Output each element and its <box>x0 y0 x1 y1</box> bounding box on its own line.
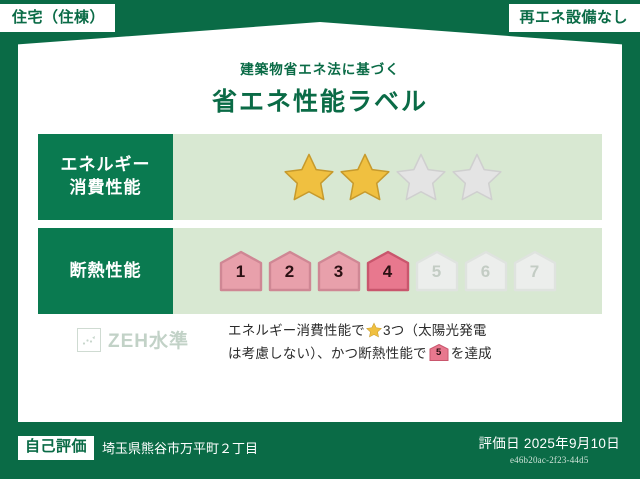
insulation-grade-5: 5 <box>414 249 460 293</box>
desc-part-2: 3つ（太陽光発電 <box>383 323 487 338</box>
building-type-tag: 住宅（住棟） <box>0 4 115 32</box>
zeh-standard-label: ZEH水準 <box>108 326 189 353</box>
insulation-grade-2: 2 <box>267 249 313 293</box>
label-title: 省エネ性能ラベル <box>18 82 622 118</box>
insulation-performance-row: 断熱性能 1234567 <box>38 228 602 314</box>
star-icon-filled <box>339 151 391 203</box>
assessment-type-badge: 自己評価 <box>18 436 94 460</box>
star-icon-empty <box>395 151 447 203</box>
desc-part-1: エネルギー消費性能で <box>228 323 365 338</box>
energy-performance-label: エネルギー 消費性能 <box>38 134 173 220</box>
energy-performance-row: エネルギー 消費性能 <box>38 134 602 220</box>
insulation-grade-scale: 1234567 <box>218 249 558 293</box>
desc-part-3: は考慮しない）、かつ断熱性能で <box>228 346 427 361</box>
star-icon-empty <box>451 151 503 203</box>
insulation-grade-3: 3 <box>316 249 362 293</box>
energy-label-card: 住宅（住棟） 再エネ設備なし 建築物省エネ法に基づく 省エネ性能ラベル エネルギ… <box>0 0 640 479</box>
inline-grade-number: 5 <box>429 348 449 358</box>
star-icon-filled <box>283 151 335 203</box>
label-subtitle: 建築物省エネ法に基づく <box>18 58 622 78</box>
insulation-performance-label-line1: 断熱性能 <box>70 260 142 283</box>
energy-performance-label-line2: 消費性能 <box>70 177 142 200</box>
insulation-grade-number: 4 <box>365 263 411 280</box>
energy-performance-label-line1: エネルギー <box>61 154 151 177</box>
evaluation-id: e46b20ac-2f23-44d5 <box>478 455 620 465</box>
insulation-grade-number: 7 <box>512 263 558 280</box>
insulation-grade-number: 1 <box>218 263 264 280</box>
energy-performance-value <box>173 134 602 220</box>
star-icon <box>366 322 382 338</box>
evaluation-date: 評価日 2025年9月10日 <box>478 432 620 452</box>
trend-chart-icon <box>77 328 101 352</box>
inline-grade-badge: 5 <box>429 344 449 361</box>
insulation-grade-1: 1 <box>218 249 264 293</box>
insulation-grade-number: 5 <box>414 263 460 280</box>
insulation-grade-number: 2 <box>267 263 313 280</box>
property-address: 埼玉県熊谷市万平町２丁目 <box>102 438 258 457</box>
zeh-note: ZEH水準 エネルギー消費性能で3つ（太陽光発電は考慮しない）、かつ断熱性能で5… <box>38 320 602 366</box>
label-footer: 自己評価 埼玉県熊谷市万平町２丁目 評価日 2025年9月10日 e46b20a… <box>0 422 640 479</box>
label-panel: 建築物省エネ法に基づく 省エネ性能ラベル エネルギー 消費性能 <box>18 22 622 422</box>
renewable-equipment-tag: 再エネ設備なし <box>509 4 640 32</box>
desc-part-4: を達成 <box>451 346 492 361</box>
insulation-grade-number: 3 <box>316 263 362 280</box>
performance-rows: エネルギー 消費性能 断熱性能 1234567 <box>38 134 602 322</box>
achievement-description: エネルギー消費性能で3つ（太陽光発電は考慮しない）、かつ断熱性能で5を達成 <box>228 320 602 366</box>
insulation-grade-6: 6 <box>463 249 509 293</box>
zeh-standard-block: ZEH水準 <box>38 320 228 353</box>
insulation-grade-number: 6 <box>463 263 509 280</box>
evaluation-info: 評価日 2025年9月10日 e46b20ac-2f23-44d5 <box>478 432 620 465</box>
insulation-grade-4: 4 <box>365 249 411 293</box>
insulation-performance-label: 断熱性能 <box>38 228 173 314</box>
page-title: 建築物省エネ法に基づく 省エネ性能ラベル <box>18 58 622 118</box>
star-rating <box>283 151 503 203</box>
insulation-performance-value: 1234567 <box>173 228 602 314</box>
insulation-grade-7: 7 <box>512 249 558 293</box>
assessment-block: 自己評価 埼玉県熊谷市万平町２丁目 <box>18 436 258 460</box>
